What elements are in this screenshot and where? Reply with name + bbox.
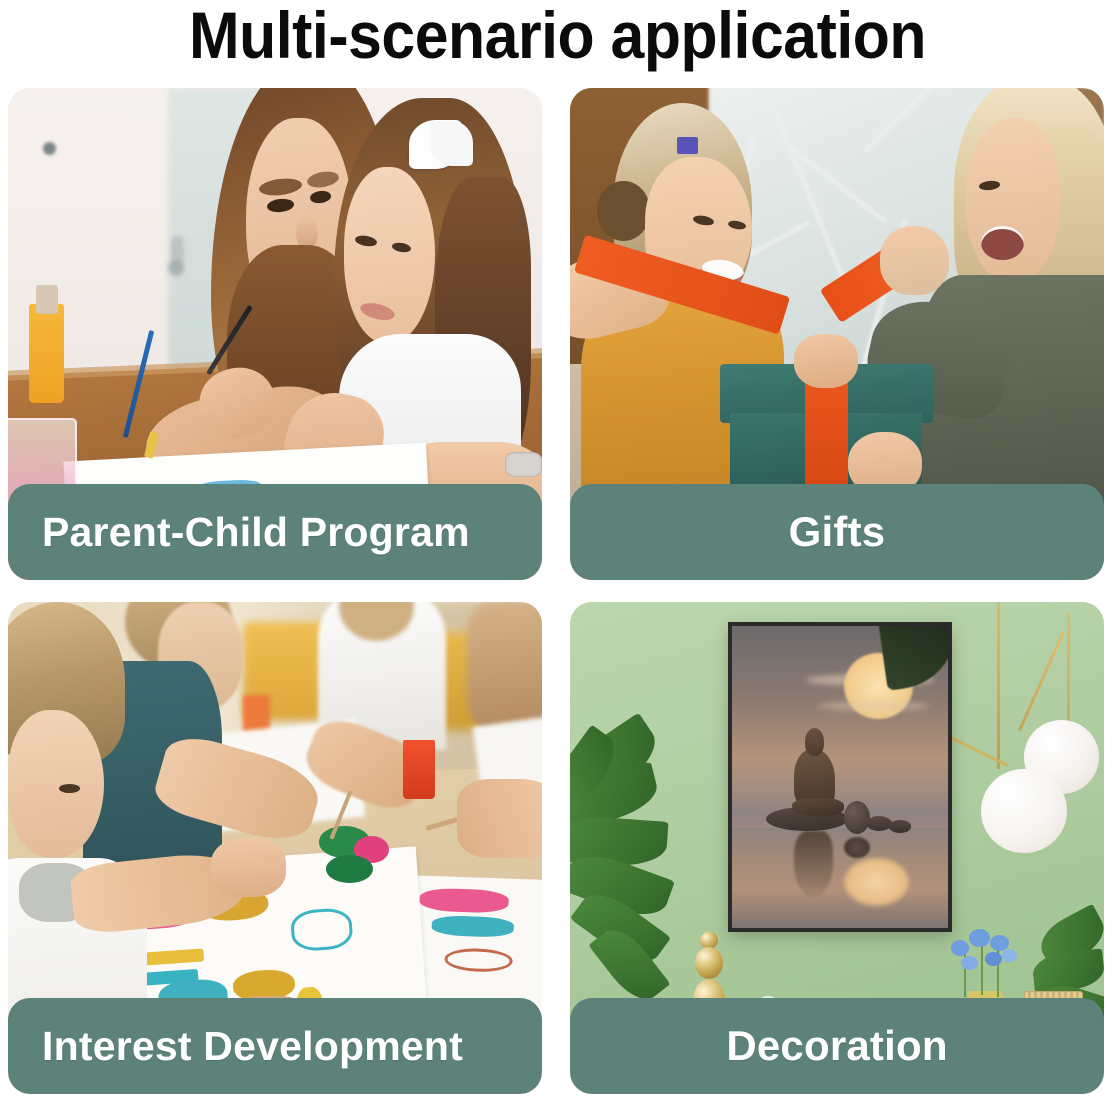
card-label-parent-child-program: Parent-Child Program [42,509,470,556]
blue-flowers [944,917,1029,1006]
scenario-card-grid: Parent-Child Program [8,88,1104,1094]
scenario-card-decoration[interactable]: Decoration [570,602,1104,1094]
card-label-bar-interest-development: Interest Development [8,998,542,1094]
card-label-bar-gifts: Gifts [570,484,1104,580]
scenario-card-parent-child-program[interactable]: Parent-Child Program [8,88,542,580]
card-label-bar-parent-child-program: Parent-Child Program [8,484,542,580]
promo-banner: Multi-scenario application [0,0,1115,1102]
scenario-card-interest-development[interactable]: Interest Development [8,602,542,1094]
card-label-gifts: Gifts [789,508,886,556]
card-label-interest-development: Interest Development [42,1023,463,1070]
framed-wall-art [728,622,952,932]
card-label-decoration: Decoration [726,1022,947,1070]
scenario-card-gifts[interactable]: Gifts [570,88,1104,580]
wet-paint-blob [307,818,424,897]
card-label-bar-decoration: Decoration [570,998,1104,1094]
page-title: Multi-scenario application [45,0,1071,74]
